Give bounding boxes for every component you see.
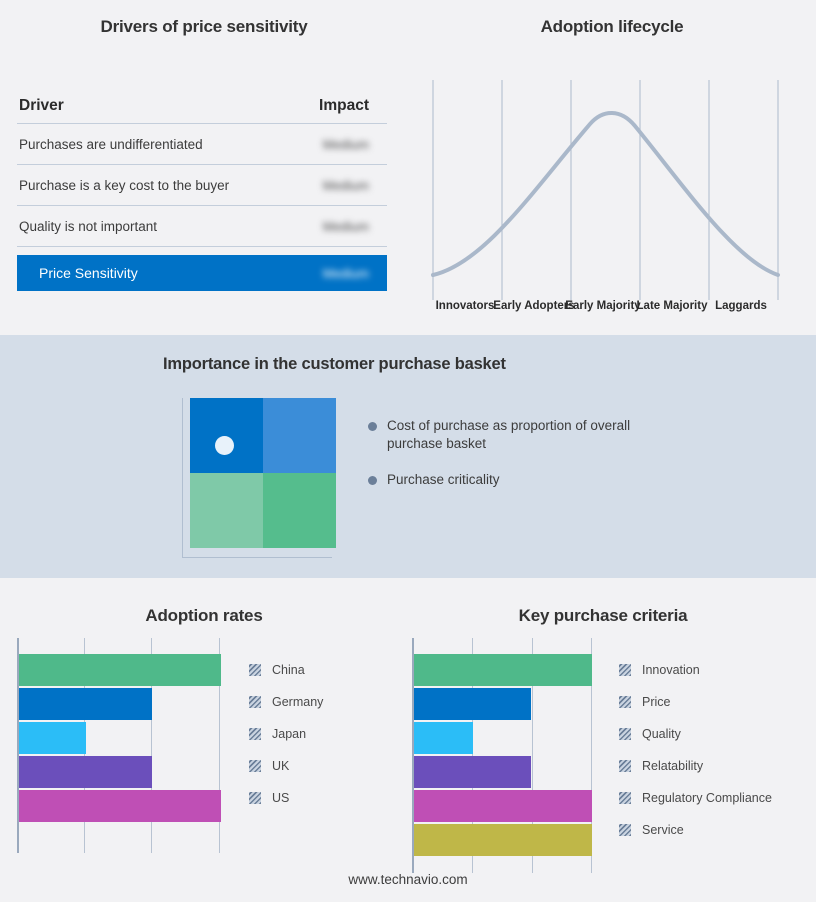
lifecycle-bell-curve [433, 113, 778, 275]
legend-item-price[interactable]: Price [619, 686, 772, 718]
bar-row-regulatory-compliance[interactable] [414, 790, 592, 822]
quadrant-top-right[interactable] [263, 398, 336, 473]
bar-fill [19, 790, 221, 822]
bar-row-china[interactable] [19, 654, 221, 686]
adoption-rates-bars [19, 654, 221, 824]
purchase-criteria-plot [412, 638, 592, 873]
purchase-criteria-title: Key purchase criteria [390, 606, 816, 626]
quadrant-bottom-right[interactable] [263, 473, 336, 548]
price-sensitivity-impact: Medium [323, 266, 369, 281]
drivers-table: Driver Impact Purchases are undifferenti… [17, 88, 387, 291]
lifecycle-curve-svg [425, 68, 799, 313]
bar-row-us[interactable] [19, 790, 221, 822]
driver-label: Purchase is a key cost to the buyer [17, 178, 229, 193]
bar-fill [414, 688, 531, 720]
quadrant-bottom-left[interactable] [190, 473, 263, 548]
legend-item-quality[interactable]: Quality [619, 718, 772, 750]
purchase-basket-band: Importance in the customer purchase bask… [0, 335, 816, 578]
legend-label: Japan [272, 727, 306, 741]
adoption-rates-title: Adoption rates [0, 606, 408, 626]
column-header-driver: Driver [17, 97, 64, 115]
legend-label: US [272, 791, 289, 805]
purchase-criteria-bars [414, 654, 592, 858]
adoption-rates-panel: Adoption rates China Germany Japan UK [0, 578, 408, 902]
legend-item-japan[interactable]: Japan [249, 718, 323, 750]
hatched-swatch-icon [619, 728, 631, 740]
driver-label: Quality is not important [17, 219, 157, 234]
lifecycle-chart: Innovators Early Adopters Early Majority… [425, 68, 799, 313]
basket-title: Importance in the customer purchase bask… [0, 355, 816, 374]
bar-row-uk[interactable] [19, 756, 221, 788]
legend-item-us[interactable]: US [249, 782, 323, 814]
basket-legend-label: Cost of purchase as proportion of overal… [387, 417, 658, 453]
hatched-swatch-icon [619, 664, 631, 676]
legend-item-service[interactable]: Service [619, 814, 772, 846]
purchase-criteria-legend: Innovation Price Quality Relatability Re… [619, 638, 772, 873]
purchase-basket-matrix [182, 398, 342, 563]
column-header-impact: Impact [319, 97, 387, 115]
legend-item-regulatory-compliance[interactable]: Regulatory Compliance [619, 782, 772, 814]
adoption-rates-legend: China Germany Japan UK US [249, 638, 323, 853]
driver-label: Purchases are undifferentiated [17, 137, 203, 152]
bar-row-service[interactable] [414, 824, 592, 856]
bar-row-relatability[interactable] [414, 756, 592, 788]
adoption-rates-plot [17, 638, 221, 853]
legend-label: Quality [642, 727, 681, 741]
bar-fill [19, 688, 152, 720]
hatched-swatch-icon [619, 792, 631, 804]
legend-label: Germany [272, 695, 323, 709]
bar-fill [414, 756, 531, 788]
impact-value: Medium [323, 178, 387, 193]
bottom-band: Adoption rates China Germany Japan UK [0, 578, 816, 902]
purchase-criteria-panel: Key purchase criteria Innovation Price [390, 578, 816, 902]
bar-fill [19, 722, 86, 754]
bullet-icon [368, 422, 377, 431]
legend-label: Price [642, 695, 670, 709]
legend-label: Regulatory Compliance [642, 791, 772, 805]
bar-row-japan[interactable] [19, 722, 221, 754]
purchase-criteria-chart: Innovation Price Quality Relatability Re… [412, 638, 812, 873]
bar-row-quality[interactable] [414, 722, 592, 754]
table-row[interactable]: Purchase is a key cost to the buyer Medi… [17, 165, 387, 206]
matrix-quadrants [190, 398, 336, 548]
hatched-swatch-icon [249, 728, 261, 740]
table-row[interactable]: Purchases are undifferentiated Medium [17, 124, 387, 165]
hatched-swatch-icon [249, 792, 261, 804]
legend-item-germany[interactable]: Germany [249, 686, 323, 718]
drivers-table-header: Driver Impact [17, 88, 387, 124]
bar-row-innovation[interactable] [414, 654, 592, 686]
footer-url: www.technavio.com [0, 872, 816, 887]
basket-legend-label: Purchase criticality [387, 471, 500, 489]
bar-fill [414, 824, 592, 856]
lifecycle-panel: Adoption lifecycle Innovators Early Adop… [408, 0, 816, 335]
basket-legend: Cost of purchase as proportion of overal… [368, 417, 658, 507]
bar-fill [19, 654, 221, 686]
drivers-title: Drivers of price sensitivity [0, 17, 408, 37]
table-row[interactable]: Quality is not important Medium [17, 206, 387, 247]
drivers-panel: Drivers of price sensitivity Driver Impa… [0, 0, 408, 335]
hatched-swatch-icon [249, 696, 261, 708]
list-item: Cost of purchase as proportion of overal… [368, 417, 658, 453]
hatched-swatch-icon [249, 760, 261, 772]
legend-item-relatability[interactable]: Relatability [619, 750, 772, 782]
bar-row-germany[interactable] [19, 688, 221, 720]
hatched-swatch-icon [619, 760, 631, 772]
position-marker-dot [215, 436, 234, 455]
legend-item-innovation[interactable]: Innovation [619, 654, 772, 686]
legend-label: China [272, 663, 305, 677]
legend-item-uk[interactable]: UK [249, 750, 323, 782]
bar-fill [414, 722, 473, 754]
list-item: Purchase criticality [368, 471, 658, 489]
impact-value: Medium [323, 219, 387, 234]
legend-label: UK [272, 759, 289, 773]
top-band: Drivers of price sensitivity Driver Impa… [0, 0, 816, 335]
bullet-icon [368, 476, 377, 485]
adoption-rates-chart: China Germany Japan UK US [17, 638, 391, 853]
price-sensitivity-summary-row[interactable]: Price Sensitivity Medium [17, 255, 387, 291]
legend-label: Innovation [642, 663, 700, 677]
hatched-swatch-icon [619, 696, 631, 708]
legend-label: Relatability [642, 759, 703, 773]
bar-fill [414, 790, 592, 822]
hatched-swatch-icon [249, 664, 261, 676]
bar-row-price[interactable] [414, 688, 592, 720]
hatched-swatch-icon [619, 824, 631, 836]
lifecycle-stage-label: Laggards [700, 300, 782, 313]
lifecycle-title: Adoption lifecycle [408, 17, 816, 37]
price-sensitivity-label: Price Sensitivity [39, 265, 138, 281]
legend-item-china[interactable]: China [249, 654, 323, 686]
bar-fill [19, 756, 152, 788]
impact-value: Medium [323, 137, 387, 152]
legend-label: Service [642, 823, 684, 837]
bar-fill [414, 654, 592, 686]
